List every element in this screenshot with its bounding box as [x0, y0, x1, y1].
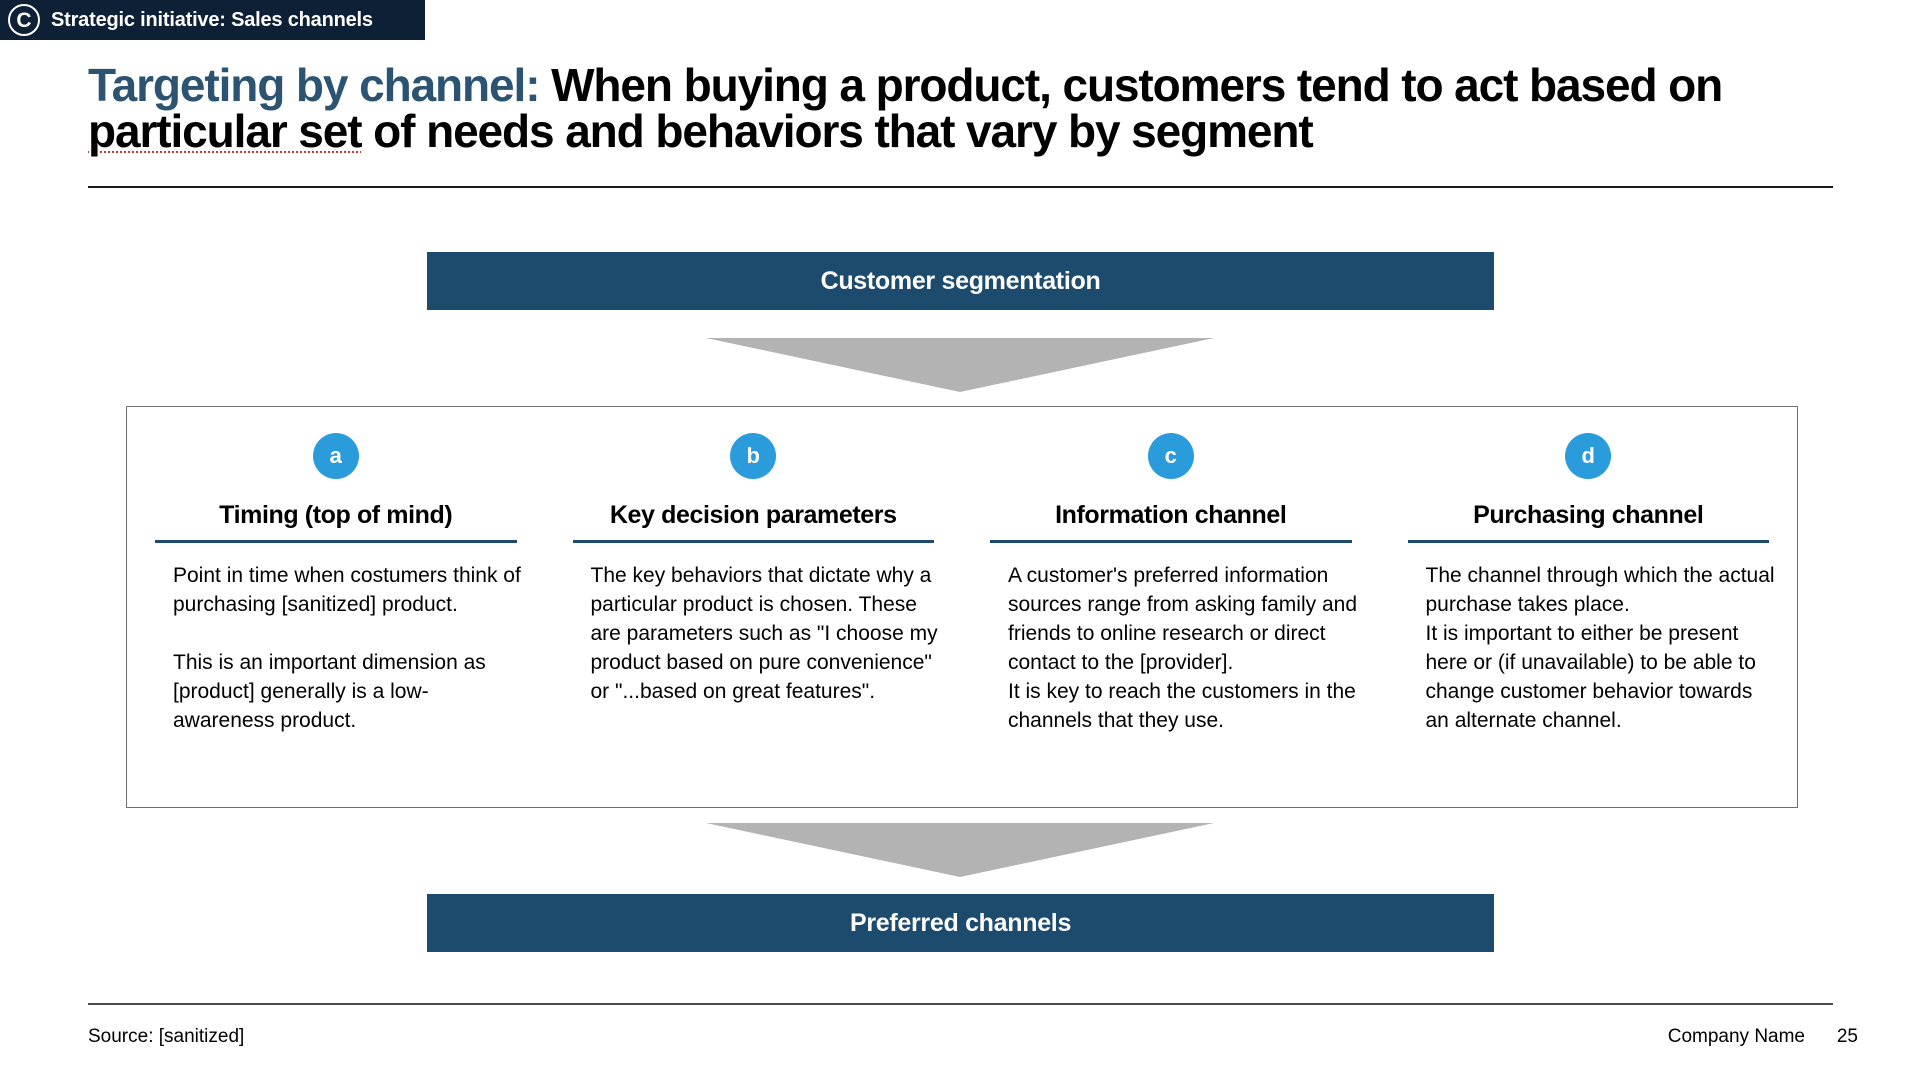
column-paragraph: Point in time when costumers think of pu… [173, 561, 525, 619]
column-paragraph: It is important to either be present her… [1426, 619, 1778, 735]
page-title: Targeting by channel: When buying a prod… [88, 62, 1838, 154]
column-divider-d [1408, 540, 1770, 543]
down-arrow-icon-bottom [706, 823, 1214, 877]
title-divider [88, 186, 1833, 188]
column-body-b: The key behaviors that dictate why a par… [559, 561, 949, 706]
column-body-a: Point in time when costumers think of pu… [141, 561, 531, 735]
preferred-channels-banner-label: Preferred channels [850, 909, 1071, 938]
segmentation-dimensions-panel: a Timing (top of mind) Point in time whe… [126, 406, 1798, 808]
customer-segmentation-banner: Customer segmentation [427, 252, 1494, 310]
initiative-tag: C Strategic initiative: Sales channels [0, 0, 425, 40]
initiative-tag-label: Strategic initiative: Sales channels [51, 9, 373, 32]
column-heading-a: Timing (top of mind) [141, 501, 531, 530]
footer-source: Source: [sanitized] [88, 1026, 244, 1048]
dimension-column-b: b Key decision parameters The key behavi… [545, 407, 963, 807]
column-heading-b: Key decision parameters [559, 501, 949, 530]
column-divider-b [573, 540, 935, 543]
down-arrow-icon-top [706, 338, 1214, 392]
dimension-column-c: c Information channel A customer's prefe… [962, 407, 1380, 807]
footer-company-name: Company Name [1668, 1026, 1805, 1048]
initiative-letter-badge: C [8, 4, 40, 36]
column-badge-d: d [1565, 433, 1611, 479]
column-body-d: The channel through which the actual pur… [1394, 561, 1784, 735]
column-paragraph: The key behaviors that dictate why a par… [591, 561, 943, 706]
column-badge-a: a [313, 433, 359, 479]
column-badge-c: c [1148, 433, 1194, 479]
slide-title-text: Targeting by channel: When buying a prod… [88, 62, 1838, 154]
column-paragraph: This is an important dimension as [produ… [173, 648, 525, 735]
column-paragraph: The channel through which the actual pur… [1426, 561, 1778, 619]
column-divider-c [990, 540, 1352, 543]
column-heading-d: Purchasing channel [1394, 501, 1784, 530]
slide-title-lead: Targeting by channel: [88, 59, 539, 111]
column-divider-a [155, 540, 517, 543]
customer-segmentation-banner-label: Customer segmentation [821, 267, 1101, 296]
dimension-column-d: d Purchasing channel The channel through… [1380, 407, 1798, 807]
column-heading-c: Information channel [976, 501, 1366, 530]
slide-title-part2: of needs and behaviors that vary by segm… [362, 105, 1313, 157]
column-badge-b: b [730, 433, 776, 479]
footer-divider [88, 1003, 1833, 1005]
column-paragraph: It is key to reach the customers in the … [1008, 677, 1360, 735]
footer-page-number: 25 [1837, 1026, 1858, 1048]
dimension-column-a: a Timing (top of mind) Point in time whe… [127, 407, 545, 807]
slide-title-part1: When buying a product, customers tend to… [539, 59, 1722, 111]
column-paragraph: A customer's preferred information sourc… [1008, 561, 1360, 677]
preferred-channels-banner: Preferred channels [427, 894, 1494, 952]
column-body-c: A customer's preferred information sourc… [976, 561, 1366, 735]
slide-title-spellcheck-phrase: particular set [88, 105, 362, 157]
